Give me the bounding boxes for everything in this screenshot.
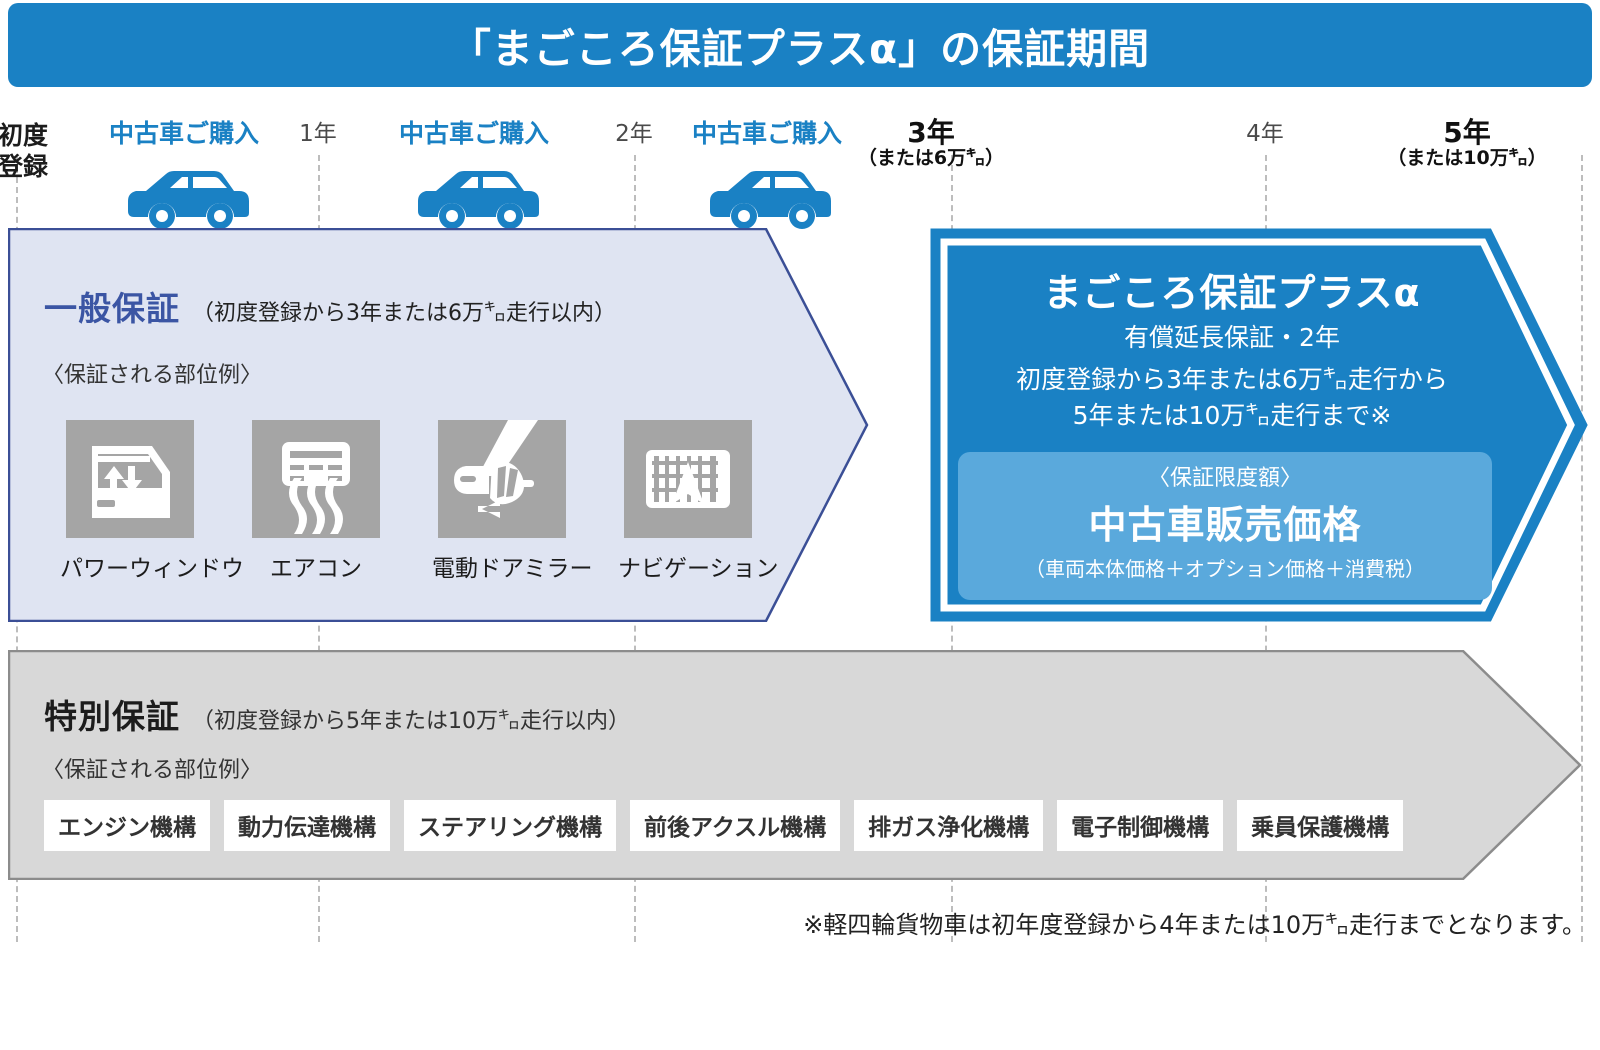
- plus-alpha-subtitle: 有償延長保証・2年: [952, 318, 1512, 354]
- power-door-mirror-icon: [438, 420, 566, 538]
- warranty-chip: 排ガス浄化機構: [854, 800, 1043, 851]
- warranty-chip: 電子制御機構: [1057, 800, 1223, 851]
- general-warranty-parts-label: 〈保証される部位例〉: [42, 357, 262, 389]
- general-warranty-heading: 一般保証 （初度登録から3年または6万㌔走行以内）: [44, 282, 616, 330]
- page-title: 「まごころ保証プラスα」の保証期間: [450, 15, 1150, 75]
- timeline-label-initial-registration: 初度 登録: [0, 120, 74, 183]
- warranty-chip: エンジン機構: [44, 800, 210, 851]
- general-warranty-parts-list: パワーウィンドウ エアコン: [60, 420, 758, 583]
- part-item-power-door-mirror: 電動ドアミラー: [432, 420, 572, 583]
- navigation-icon: [624, 420, 752, 538]
- plus-alpha-title: まごころ保証プラスα: [952, 262, 1512, 317]
- warranty-limit-box: 〈保証限度額〉 中古車販売価格 （車両本体価格＋オプション価格＋消費税）: [958, 452, 1492, 600]
- warranty-chip: 乗員保護機構: [1237, 800, 1403, 851]
- general-warranty-note: （初度登録から3年または6万㌔走行以内）: [192, 295, 616, 327]
- timeline-label-initial-registration-line1: 初度: [0, 120, 74, 151]
- special-warranty-chip-list: エンジン機構 動力伝達機構 ステアリング機構 前後アクスル機構 排ガス浄化機構 …: [44, 800, 1403, 851]
- warranty-chip: 前後アクスル機構: [630, 800, 840, 851]
- car-icon: [118, 167, 253, 233]
- part-label: ナビゲーション: [618, 549, 758, 583]
- special-warranty-heading: 特別保証 （初度登録から5年または10万㌔走行以内）: [44, 690, 630, 738]
- plus-alpha-detail-line1: 初度登録から3年または6万㌔走行から: [942, 362, 1522, 398]
- timeline-label-year3: 3年 （または6万㌔）: [816, 117, 1046, 170]
- part-item-air-conditioner: エアコン: [246, 420, 386, 583]
- warranty-limit-value: 中古車販売価格: [958, 494, 1492, 549]
- warranty-chip: ステアリング機構: [404, 800, 616, 851]
- special-warranty-note: （初度登録から5年または10万㌔走行以内）: [192, 703, 630, 735]
- footnote: ※軽四輪貨物車は初年度登録から4年または10万㌔走行までとなります。: [803, 905, 1586, 940]
- power-window-icon: [66, 420, 194, 538]
- timeline-label-year3-sub: （または6万㌔）: [816, 148, 1046, 169]
- timeline-label-year5-sub: （または10万㌔）: [1352, 148, 1582, 169]
- part-label: エアコン: [246, 549, 386, 583]
- timeline-label-year4: 4年: [1220, 122, 1310, 148]
- warranty-limit-label: 〈保証限度額〉: [958, 460, 1492, 492]
- timeline-label-year5: 5年 （または10万㌔）: [1352, 117, 1582, 170]
- timeline-label-initial-registration-line2: 登録: [0, 151, 74, 182]
- car-icon: [408, 167, 543, 233]
- timeline-axis: 初度 登録 中古車ご購入 中古車ご購入 中古車ご購入 1年 2年 4年 3年 （…: [0, 95, 1600, 235]
- diagram-root: 「まごころ保証プラスα」の保証期間 初度 登録 中古車ご購入 中古車ご購入 中古…: [0, 0, 1600, 1050]
- plus-alpha-detail-line2: 5年または10万㌔走行まで※: [942, 398, 1522, 434]
- part-item-power-window: パワーウィンドウ: [60, 420, 200, 583]
- plus-alpha-detail: 初度登録から3年または6万㌔走行から 5年または10万㌔走行まで※: [942, 362, 1522, 435]
- timeline-label-year5-main: 5年: [1352, 117, 1582, 148]
- timeline-label-year1: 1年: [273, 122, 363, 148]
- timeline-label-purchase-1: 中古車ご購入: [84, 120, 284, 148]
- timeline-label-year2: 2年: [589, 122, 679, 148]
- part-label: パワーウィンドウ: [60, 549, 200, 583]
- car-icon: [700, 167, 835, 233]
- general-warranty-title: 一般保証: [44, 282, 180, 330]
- timeline-label-year3-main: 3年: [816, 117, 1046, 148]
- special-warranty-title: 特別保証: [44, 690, 180, 738]
- part-label: 電動ドアミラー: [432, 549, 572, 583]
- page-title-bar: 「まごころ保証プラスα」の保証期間: [8, 3, 1592, 87]
- air-conditioner-icon: [252, 420, 380, 538]
- warranty-chip: 動力伝達機構: [224, 800, 390, 851]
- special-warranty-parts-label: 〈保証される部位例〉: [42, 752, 262, 784]
- timeline-label-purchase-2: 中古車ご購入: [374, 120, 574, 148]
- warranty-limit-note: （車両本体価格＋オプション価格＋消費税）: [958, 553, 1492, 582]
- part-item-navigation: ナビゲーション: [618, 420, 758, 583]
